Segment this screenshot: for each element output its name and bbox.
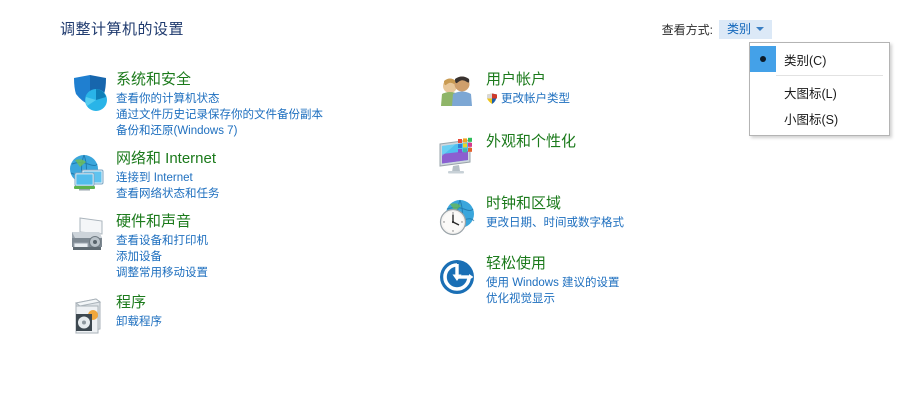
category-link[interactable]: 查看网络状态和任务 xyxy=(116,186,430,202)
category-link[interactable]: 通过文件历史记录保存你的文件备份副本 xyxy=(116,107,430,123)
view-by-value: 类别 xyxy=(727,22,751,36)
category-link[interactable]: 查看设备和打印机 xyxy=(116,233,430,249)
radio-selected-icon xyxy=(750,46,776,72)
menu-item-label: 大图标(L) xyxy=(776,83,837,102)
menu-item-category[interactable]: 类别(C) xyxy=(750,46,889,72)
category-link[interactable]: 优化视觉显示 xyxy=(486,291,800,307)
category-title[interactable]: 程序 xyxy=(116,293,146,312)
category-programs: 程序 卸载程序 xyxy=(60,293,430,341)
category-title[interactable]: 用户帐户 xyxy=(486,70,546,89)
menu-item-large-icons[interactable]: 大图标(L) xyxy=(750,79,889,105)
category-column-left: 系统和安全 查看你的计算机状态 通过文件历史记录保存你的文件备份副本 备份和还原… xyxy=(60,70,430,357)
user-accounts-icon xyxy=(430,72,486,118)
network-globe-icon xyxy=(60,151,116,197)
category-ease-of-access: 轻松使用 使用 Windows 建议的设置 优化视觉显示 xyxy=(430,254,800,307)
category-title[interactable]: 时钟和区域 xyxy=(486,194,561,213)
category-link[interactable]: 卸载程序 xyxy=(116,314,430,330)
view-by-button[interactable]: 类别 xyxy=(719,20,772,39)
security-shield-icon xyxy=(60,72,116,118)
page-title: 调整计算机的设置 xyxy=(60,18,184,39)
appearance-monitor-icon xyxy=(430,134,486,180)
radio-empty-icon xyxy=(750,79,776,105)
category-title[interactable]: 外观和个性化 xyxy=(486,132,576,151)
menu-item-small-icons[interactable]: 小图标(S) xyxy=(750,105,889,131)
category-link[interactable]: 备份和还原(Windows 7) xyxy=(116,123,430,139)
category-title[interactable]: 网络和 Internet xyxy=(116,149,216,168)
clock-region-icon xyxy=(430,196,486,242)
menu-separator xyxy=(776,75,883,76)
menu-item-label: 小图标(S) xyxy=(776,109,838,128)
programs-box-icon xyxy=(60,295,116,341)
category-column-right: 用户帐户 更改帐户类型 xyxy=(430,70,800,323)
category-appearance-and-personalization: 外观和个性化 xyxy=(430,132,800,180)
category-clock-and-region: 时钟和区域 更改日期、时间或数字格式 xyxy=(430,194,800,242)
uac-shield-icon xyxy=(486,93,498,105)
category-hardware-and-sound: 硬件和声音 查看设备和打印机 添加设备 调整常用移动设置 xyxy=(60,212,430,281)
category-user-accounts: 用户帐户 更改帐户类型 xyxy=(430,70,800,118)
view-by-control: 查看方式: 类别 xyxy=(662,20,772,39)
view-by-dropdown-menu[interactable]: 类别(C) 大图标(L) 小图标(S) xyxy=(749,42,890,136)
control-panel-header: 调整计算机的设置 查看方式: 类别 xyxy=(0,0,900,46)
chevron-down-icon xyxy=(756,27,764,31)
category-link[interactable]: 查看你的计算机状态 xyxy=(116,91,430,107)
ease-of-access-icon xyxy=(430,256,486,302)
radio-empty-icon xyxy=(750,105,776,131)
category-system-and-security: 系统和安全 查看你的计算机状态 通过文件历史记录保存你的文件备份副本 备份和还原… xyxy=(60,70,430,139)
category-title[interactable]: 系统和安全 xyxy=(116,70,191,89)
category-network-and-internet: 网络和 Internet 连接到 Internet 查看网络状态和任务 xyxy=(60,149,430,202)
category-link[interactable]: 添加设备 xyxy=(116,249,430,265)
category-title[interactable]: 轻松使用 xyxy=(486,254,546,273)
category-link[interactable]: 使用 Windows 建议的设置 xyxy=(486,275,800,291)
printer-hardware-icon xyxy=(60,214,116,260)
category-title[interactable]: 硬件和声音 xyxy=(116,212,191,231)
category-link[interactable]: 调整常用移动设置 xyxy=(116,265,430,281)
category-link-label: 更改帐户类型 xyxy=(501,91,570,107)
view-by-label: 查看方式: xyxy=(662,21,713,38)
menu-item-label: 类别(C) xyxy=(776,50,826,69)
category-link[interactable]: 连接到 Internet xyxy=(116,170,430,186)
category-link[interactable]: 更改日期、时间或数字格式 xyxy=(486,215,800,231)
